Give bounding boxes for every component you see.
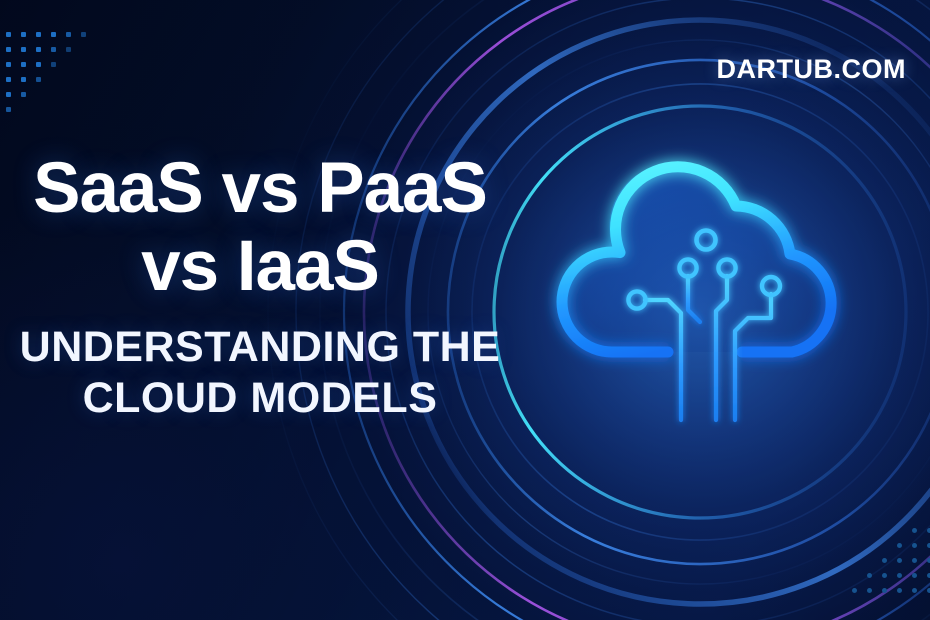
grid-dot: [36, 32, 41, 37]
grid-dot: [852, 588, 857, 593]
dot-grid-bottom-right: [852, 528, 930, 620]
grid-dot: [66, 47, 71, 52]
grid-dot: [6, 107, 11, 112]
grid-dot: [897, 543, 902, 548]
grid-dot: [6, 47, 11, 52]
grid-dot: [6, 62, 11, 67]
grid-dot: [6, 77, 11, 82]
grid-dot: [6, 92, 11, 97]
grid-dot: [912, 543, 917, 548]
dot-grid-top-left: [6, 32, 96, 142]
grid-dot: [912, 558, 917, 563]
grid-dot: [66, 32, 71, 37]
grid-dot: [21, 47, 26, 52]
grid-dot: [21, 32, 26, 37]
grid-dot: [21, 92, 26, 97]
grid-dot: [21, 77, 26, 82]
grid-dot: [51, 62, 56, 67]
grid-dot: [912, 573, 917, 578]
grid-dot: [867, 573, 872, 578]
grid-dot: [882, 573, 887, 578]
grid-dot: [882, 558, 887, 563]
grid-dot: [897, 588, 902, 593]
grid-dot: [36, 62, 41, 67]
title-card-canvas: SaaS vs PaaSvs IaaS UNDERSTANDING THECLO…: [0, 0, 930, 620]
grid-dot: [81, 32, 86, 37]
grid-dot: [36, 77, 41, 82]
title-line-2: vs IaaS: [141, 227, 379, 306]
page-subtitle: UNDERSTANDING THECLOUD MODELS: [0, 322, 520, 424]
headline-block: SaaS vs PaaSvs IaaS UNDERSTANDING THECLO…: [0, 150, 520, 424]
page-title: SaaS vs PaaSvs IaaS: [0, 150, 520, 306]
grid-dot: [882, 588, 887, 593]
subtitle-line-1: UNDERSTANDING THE: [20, 323, 501, 371]
grid-dot: [897, 573, 902, 578]
subtitle-line-2: CLOUD MODELS: [83, 374, 438, 422]
grid-dot: [36, 47, 41, 52]
title-line-1: SaaS vs PaaS: [33, 149, 487, 228]
grid-dot: [51, 32, 56, 37]
watermark-brand: DARTUB.COM: [717, 54, 906, 85]
grid-dot: [21, 62, 26, 67]
grid-dot: [897, 558, 902, 563]
circuit-tails: [681, 352, 735, 445]
grid-dot: [51, 47, 56, 52]
grid-dot: [867, 588, 872, 593]
grid-dot: [912, 588, 917, 593]
grid-dot: [912, 528, 917, 533]
grid-dot: [6, 32, 11, 37]
